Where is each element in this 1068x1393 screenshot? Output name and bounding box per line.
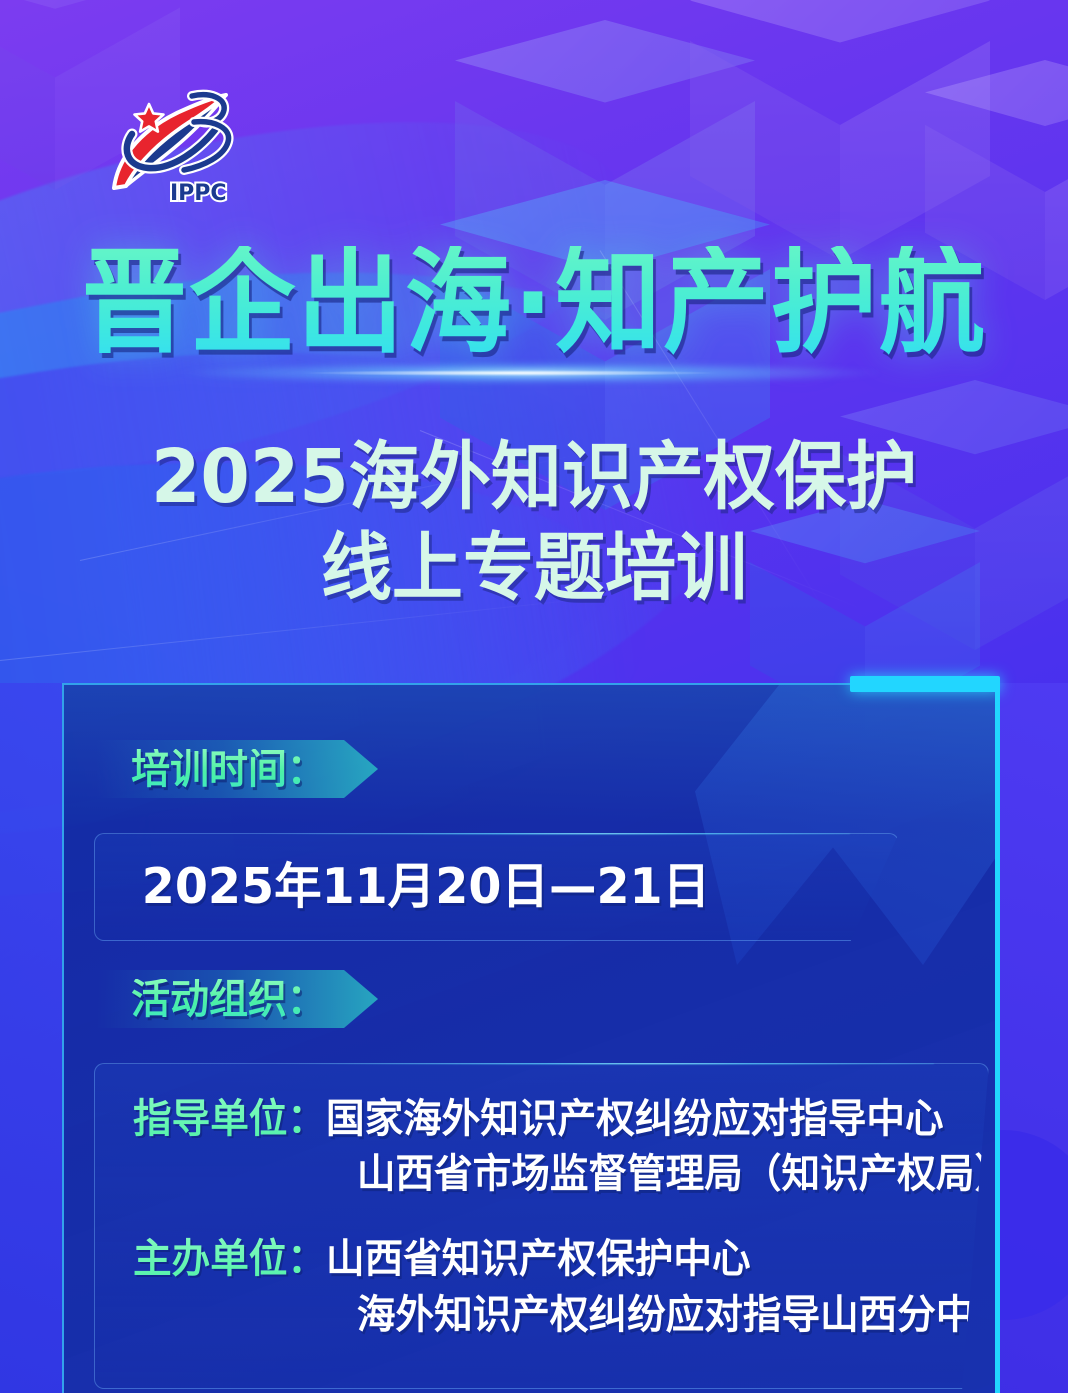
training-time-tag-label: 培训时间： xyxy=(131,749,326,790)
title-glow-core xyxy=(300,370,720,376)
bg-cube-3 xyxy=(690,0,990,260)
guidance-unit-label: 指导单位： xyxy=(133,1092,326,1147)
guidance-unit-value-2: 山西省市场监督管理局（知识产权局） xyxy=(357,1147,1013,1202)
organization-list: 指导单位： 国家海外知识产权纠纷应对指导中心 山西省市场监督管理局（知识产权局）… xyxy=(133,1092,968,1353)
main-title: 晋企出海·知产护航 xyxy=(37,246,1030,360)
subtitle-line-1: 2025海外知识产权保护 xyxy=(21,432,1046,523)
panel-right-backdrop xyxy=(1000,683,1068,1393)
guidance-unit-value-1: 国家海外知识产权纠纷应对指导中心 xyxy=(326,1092,944,1147)
host-unit-label: 主办单位： xyxy=(133,1232,326,1287)
organization-line: 指导单位： 国家海外知识产权纠纷应对指导中心 xyxy=(133,1092,939,1147)
poster-canvas: IPPC 晋企出海·知产护航 2025海外知识产权保护 线上专题培训 培训时间：… xyxy=(0,0,1068,1393)
organization-line: 海外知识产权纠纷应对指导山西分中心 xyxy=(133,1288,939,1343)
organization-tag-label: 活动组织： xyxy=(131,979,326,1020)
panel-left-backdrop xyxy=(0,683,62,1393)
organization-tag: 活动组织： xyxy=(96,970,378,1028)
subtitle: 2025海外知识产权保护 线上专题培训 xyxy=(21,432,1046,614)
ippc-logo: IPPC xyxy=(92,78,252,208)
info-panel: 培训时间： 2025年11月20日—21日 活动组织： 指导单位： 国家海外知识… xyxy=(62,683,1000,1393)
training-date-box: 2025年11月20日—21日 xyxy=(94,833,899,941)
logo-wordmark: IPPC xyxy=(170,181,227,206)
organization-box: 指导单位： 国家海外知识产权纠纷应对指导中心 山西省市场监督管理局（知识产权局）… xyxy=(94,1063,989,1389)
panel-accent-bar xyxy=(850,676,1000,692)
organization-row-guidance: 指导单位： 国家海外知识产权纠纷应对指导中心 山西省市场监督管理局（知识产权局） xyxy=(133,1092,968,1202)
organization-line: 主办单位： 山西省知识产权保护中心 xyxy=(133,1232,939,1287)
training-date-value: 2025年11月20日—21日 xyxy=(142,862,710,911)
host-unit-value-1: 山西省知识产权保护中心 xyxy=(326,1232,751,1287)
organization-line: 山西省市场监督管理局（知识产权局） xyxy=(133,1147,939,1202)
subtitle-line-2: 线上专题培训 xyxy=(21,523,1046,614)
training-time-tag: 培训时间： xyxy=(96,740,378,798)
host-unit-value-2: 海外知识产权纠纷应对指导山西分中心 xyxy=(357,1288,1013,1343)
organization-row-host: 主办单位： 山西省知识产权保护中心 海外知识产权纠纷应对指导山西分中心 xyxy=(133,1232,968,1342)
